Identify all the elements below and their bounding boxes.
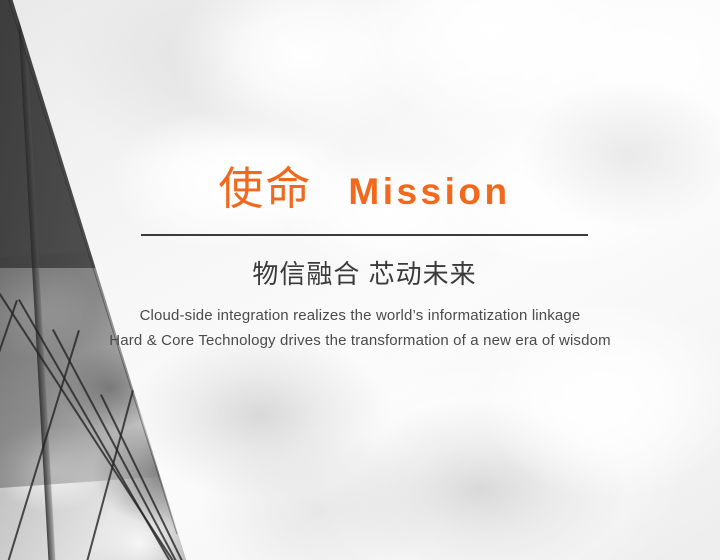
banner-content: 使命 Mission 物信融合 芯动未来 Cloud-side integrat… [0, 0, 720, 560]
body-line: Hard & Core Technology drives the transf… [60, 328, 660, 353]
headline-english: Mission [348, 173, 510, 210]
headline-chinese: 使命 [218, 166, 312, 211]
headline: 使命 Mission [141, 166, 588, 211]
mission-banner: 使命 Mission 物信融合 芯动未来 Cloud-side integrat… [0, 0, 720, 560]
body-text: Cloud-side integration realizes the worl… [60, 303, 660, 353]
subtitle: 物信融合 芯动未来 [141, 258, 588, 291]
headline-divider [141, 234, 588, 236]
body-line: Cloud-side integration realizes the worl… [60, 303, 660, 328]
